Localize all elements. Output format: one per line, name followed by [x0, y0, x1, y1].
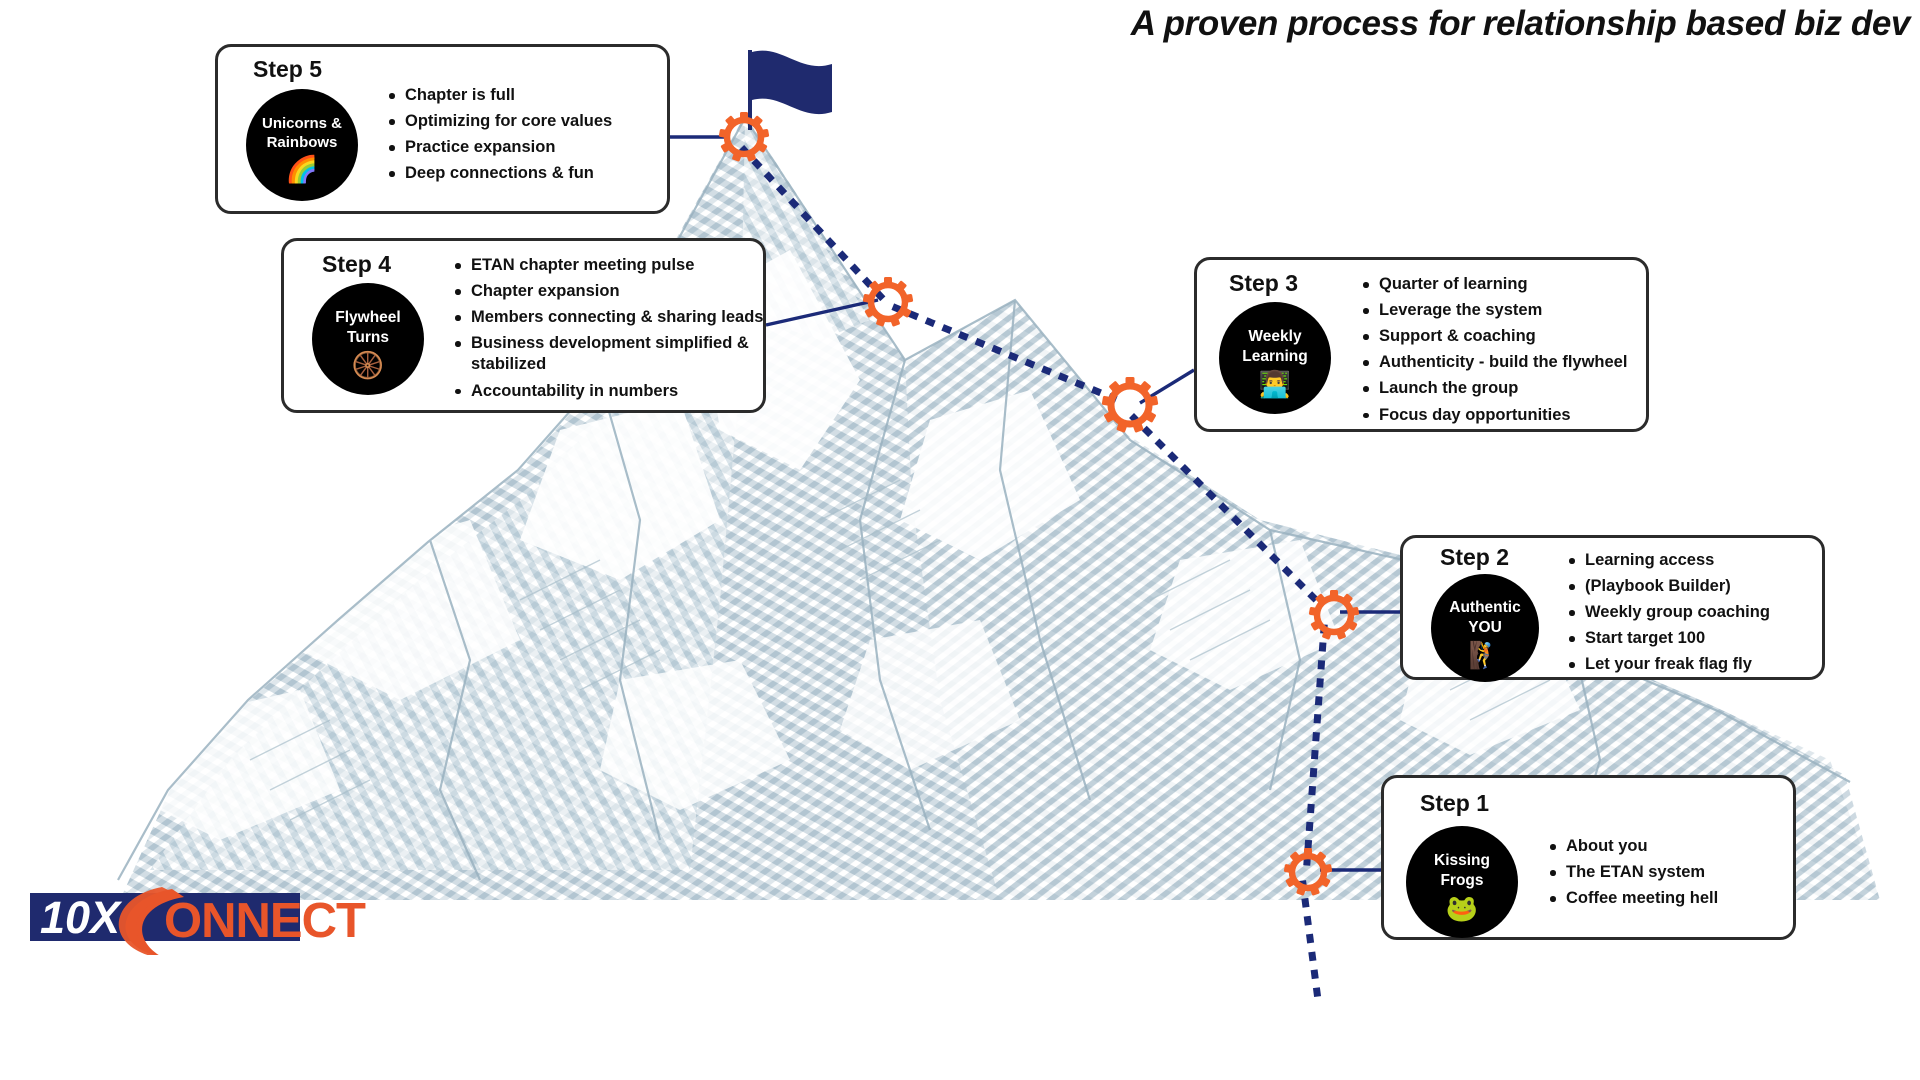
list-item: About you [1564, 836, 1804, 857]
connector-step4 [766, 300, 878, 325]
step-1-bubble-line1: Kissing [1434, 852, 1490, 869]
list-item: Accountability in numbers [469, 381, 779, 402]
step-card-2[interactable]: Step 2 Authentic YOU 🧗 Learning access (… [1400, 535, 1825, 680]
list-item: The ETAN system [1564, 862, 1804, 883]
list-item: Members connecting & sharing leads [469, 307, 779, 328]
step-card-5[interactable]: Step 5 Unicorns & Rainbows 🌈 Chapter is … [215, 44, 670, 214]
gear-node-step3 [1102, 377, 1159, 433]
list-item: (Playbook Builder) [1583, 576, 1843, 597]
flywheel-icon: 🛞 [352, 352, 384, 378]
logo-word-text: ONNECT [164, 894, 366, 948]
step-2-bubble-line1: Authentic [1449, 599, 1520, 616]
step-3-bubble: Weekly Learning 👨‍💻 [1219, 302, 1331, 414]
list-item: Quarter of learning [1377, 274, 1667, 295]
step-card-4[interactable]: Step 4 Flywheel Turns 🛞 ETAN chapter mee… [281, 238, 766, 413]
brand-logo[interactable]: 10X ONNECT [12, 885, 472, 955]
list-item: Support & coaching [1377, 326, 1667, 347]
step-2-bubble-line2: YOU [1468, 619, 1502, 636]
step-1-bubble-line2: Frogs [1440, 872, 1483, 889]
list-item: Chapter is full [403, 85, 673, 106]
step-4-bubble-line2: Turns [347, 329, 389, 346]
step-2-bubble: Authentic YOU 🧗 [1431, 574, 1539, 682]
infographic-canvas: A proven process for relationship based … [0, 0, 1920, 1080]
list-item: Coffee meeting hell [1564, 888, 1804, 909]
list-item: Start target 100 [1583, 628, 1843, 649]
step-4-bubble-line1: Flywheel [335, 309, 400, 326]
step-5-bubble-line1: Unicorns & [262, 115, 342, 132]
step-5-title: Step 5 [253, 56, 322, 83]
step-4-title: Step 4 [322, 251, 391, 278]
page-title: A proven process for relationship based … [840, 4, 1910, 44]
list-item: Launch the group [1377, 378, 1667, 399]
gear-node-step1 [1284, 848, 1333, 896]
step-4-bubble: Flywheel Turns 🛞 [312, 283, 424, 395]
list-item: Practice expansion [403, 137, 673, 158]
list-item: Leverage the system [1377, 300, 1667, 321]
step-3-bubble-line1: Weekly [1248, 328, 1301, 345]
step-3-bullets: Quarter of learning Leverage the system … [1357, 274, 1667, 431]
list-item: Deep connections & fun [403, 163, 673, 184]
person-at-desk-icon: 👨‍💻 [1259, 371, 1291, 397]
list-item: Authenticity - build the flywheel [1377, 352, 1667, 373]
step-5-bubble-line2: Rainbows [267, 134, 338, 151]
gear-node-step2 [1309, 590, 1360, 640]
list-item: Let your freak flag fly [1583, 654, 1843, 675]
step-1-bubble: Kissing Frogs 🐸 [1406, 826, 1518, 938]
gear-node-step5 [719, 112, 770, 162]
logo-mark-text: 10X [40, 892, 123, 943]
step-3-bubble-line2: Learning [1242, 348, 1307, 365]
step-2-bullets: Learning access (Playbook Builder) Weekl… [1563, 550, 1843, 681]
list-item: Learning access [1583, 550, 1843, 571]
step-1-bullets: About you The ETAN system Coffee meeting… [1544, 836, 1804, 914]
step-card-1[interactable]: Step 1 Kissing Frogs 🐸 About you The ETA… [1381, 775, 1796, 940]
step-card-3[interactable]: Step 3 Weekly Learning 👨‍💻 Quarter of le… [1194, 257, 1649, 432]
gear-node-step4 [863, 277, 914, 327]
step-5-bullets: Chapter is full Optimizing for core valu… [383, 85, 673, 189]
list-item: Chapter expansion [469, 281, 779, 302]
step-5-bubble: Unicorns & Rainbows 🌈 [246, 89, 358, 201]
step-2-title: Step 2 [1440, 544, 1509, 571]
summit-flag-icon [750, 50, 832, 130]
frog-icon: 🐸 [1446, 895, 1478, 921]
climber-icon: 🧗 [1469, 642, 1501, 668]
rainbow-icon: 🌈 [286, 156, 318, 182]
list-item: Weekly group coaching [1583, 602, 1843, 623]
step-4-bullets: ETAN chapter meeting pulse Chapter expan… [449, 255, 779, 407]
list-item: Focus day opportunities [1377, 405, 1667, 426]
list-item: Business development simplified & stabil… [469, 333, 779, 375]
step-3-title: Step 3 [1229, 270, 1298, 297]
list-item: ETAN chapter meeting pulse [469, 255, 779, 276]
list-item: Optimizing for core values [403, 111, 673, 132]
step-1-title: Step 1 [1420, 790, 1489, 817]
